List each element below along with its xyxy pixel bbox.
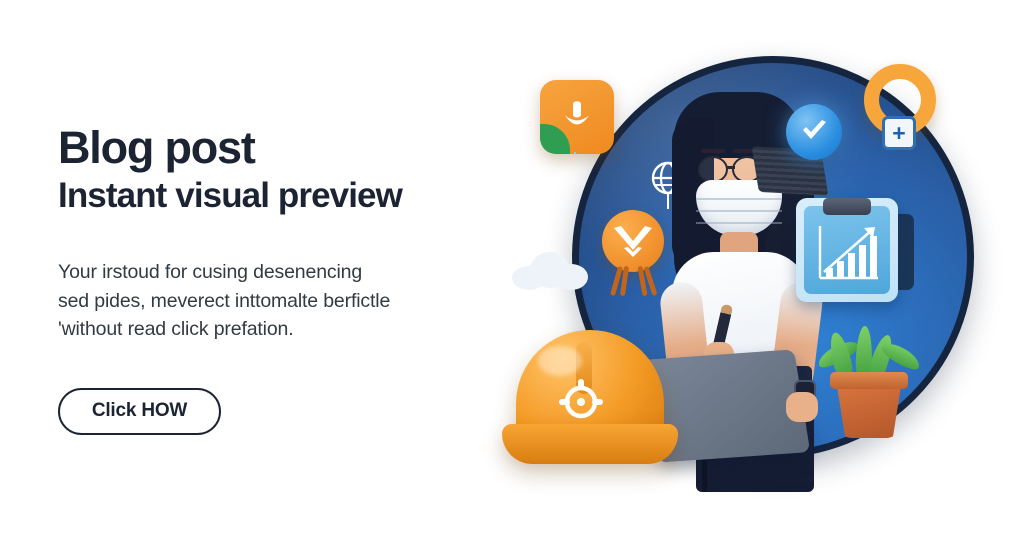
download-badge-icon <box>540 80 614 154</box>
page-title: Blog post <box>58 124 520 171</box>
verified-check-badge-icon <box>786 104 842 160</box>
apple-logo-icon <box>710 393 738 420</box>
plus-glyph: + <box>892 122 905 145</box>
bar-chart-glyph <box>816 224 880 286</box>
cta-button-label: Click HOW <box>92 400 187 422</box>
checkmark-glyph <box>798 116 830 148</box>
target-crosshair-icon <box>558 378 604 424</box>
body-line-1: Your irstoud for cusing desenencing <box>58 258 473 287</box>
body-line-2: sed pides, meverect inttomalte berfictle <box>58 287 473 316</box>
glasses-lens-left <box>698 156 728 183</box>
eyebrow <box>701 149 725 153</box>
illustration-column: + <box>520 0 1024 559</box>
clipboard-face <box>804 206 890 294</box>
body-paragraph: Your irstoud for cusing desenencing sed … <box>58 258 473 344</box>
illustration: + <box>494 0 1014 559</box>
helmet-brim <box>502 424 678 464</box>
cloud-icon <box>512 252 590 290</box>
text-column: Blog post Instant visual preview Your ir… <box>0 0 520 559</box>
badge-pointer-tail <box>574 152 596 154</box>
mask-fold <box>696 222 782 224</box>
clipboard-body <box>796 198 898 302</box>
flower-pot-rim <box>830 372 908 389</box>
cloud-puff <box>554 264 588 290</box>
clipboard-clamp <box>823 198 871 215</box>
page-subtitle: Instant visual preview <box>58 177 520 216</box>
body-line-3: 'without read click prefation. <box>58 315 473 344</box>
safety-helmet-icon <box>502 330 678 470</box>
plus-square-icon: + <box>882 116 916 150</box>
mask-fold <box>696 210 782 212</box>
mask-fold <box>696 198 782 200</box>
clipboard-chart-icon <box>796 190 908 306</box>
helmet-highlight <box>538 346 582 376</box>
glasses-bridge <box>727 166 735 169</box>
banner-root: Blog post Instant visual preview Your ir… <box>0 0 1024 559</box>
potted-plant-icon <box>814 326 922 442</box>
download-arrow-glyph <box>562 99 592 133</box>
cta-button[interactable]: Click HOW <box>58 388 221 435</box>
